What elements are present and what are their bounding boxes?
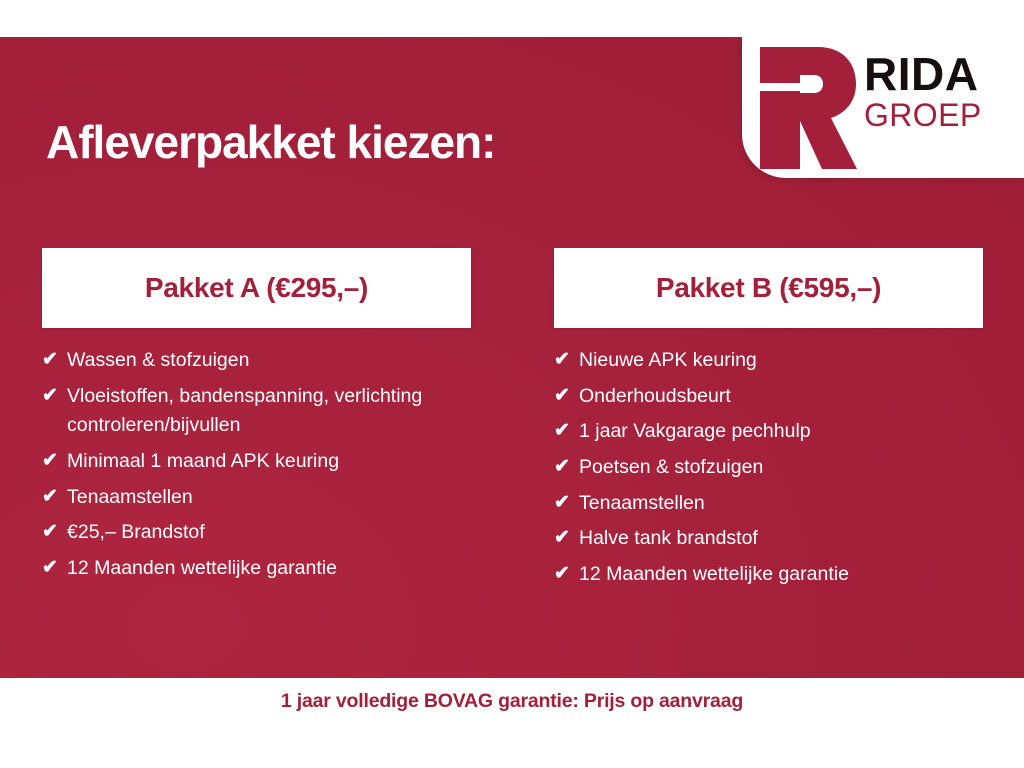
- check-icon: ✔: [554, 453, 579, 482]
- list-item: ✔ Onderhoudsbeurt: [554, 382, 983, 412]
- check-icon: ✔: [554, 524, 579, 553]
- feature-label: 12 Maanden wettelijke garantie: [579, 560, 983, 590]
- list-item: ✔ 1 jaar Vakgarage pechhulp: [554, 417, 983, 447]
- list-item: ✔ Poetsen & stofzuigen: [554, 453, 983, 483]
- list-item: ✔ 12 Maanden wettelijke garantie: [42, 554, 471, 584]
- check-icon: ✔: [42, 447, 67, 476]
- package-columns: Pakket A (€295,–) ✔ Wassen & stofzuigen …: [0, 248, 1024, 595]
- check-icon: ✔: [42, 382, 67, 411]
- main-red-panel: Afleverpakket kiezen: RIDA GROEP Pakket …: [0, 37, 1024, 678]
- feature-label: Wassen & stofzuigen: [67, 346, 471, 376]
- check-icon: ✔: [554, 346, 579, 375]
- feature-label: Tenaamstellen: [579, 489, 983, 519]
- list-item: ✔ Halve tank brandstof: [554, 524, 983, 554]
- list-item: ✔ Vloeistoffen, bandenspanning, verlicht…: [42, 382, 471, 441]
- list-item: ✔ €25,– Brandstof: [42, 518, 471, 548]
- package-b-header: Pakket B (€595,–): [554, 248, 983, 328]
- check-icon: ✔: [554, 560, 579, 589]
- feature-label: 1 jaar Vakgarage pechhulp: [579, 417, 983, 447]
- check-icon: ✔: [42, 518, 67, 547]
- feature-label: Nieuwe APK keuring: [579, 346, 983, 376]
- check-icon: ✔: [554, 382, 579, 411]
- slide-canvas: Afleverpakket kiezen: RIDA GROEP Pakket …: [0, 0, 1024, 768]
- footer-bar: 1 jaar volledige BOVAG garantie: Prijs o…: [0, 678, 1024, 768]
- feature-label: Vloeistoffen, bandenspanning, verlichtin…: [67, 382, 471, 441]
- package-b-feature-list: ✔ Nieuwe APK keuring ✔ Onderhoudsbeurt ✔…: [554, 346, 983, 589]
- feature-label: Tenaamstellen: [67, 483, 471, 513]
- check-icon: ✔: [554, 489, 579, 518]
- footer-note: 1 jaar volledige BOVAG garantie: Prijs o…: [281, 690, 743, 768]
- package-a-header: Pakket A (€295,–): [42, 248, 471, 328]
- package-column-a: Pakket A (€295,–) ✔ Wassen & stofzuigen …: [0, 248, 512, 595]
- check-icon: ✔: [42, 483, 67, 512]
- package-b-title: Pakket B (€595,–): [656, 272, 881, 304]
- feature-label: Onderhoudsbeurt: [579, 382, 983, 412]
- rida-r-monogram-icon: [756, 45, 860, 171]
- check-icon: ✔: [554, 417, 579, 446]
- brand-logo-card: RIDA GROEP: [742, 37, 1024, 178]
- feature-label: €25,– Brandstof: [67, 518, 471, 548]
- feature-label: 12 Maanden wettelijke garantie: [67, 554, 471, 584]
- package-a-feature-list: ✔ Wassen & stofzuigen ✔ Vloeistoffen, ba…: [42, 346, 471, 583]
- check-icon: ✔: [42, 554, 67, 583]
- list-item: ✔ Wassen & stofzuigen: [42, 346, 471, 376]
- brand-name-secondary: GROEP: [864, 98, 1014, 133]
- brand-name-primary: RIDA: [864, 51, 1014, 98]
- list-item: ✔ Tenaamstellen: [554, 489, 983, 519]
- package-a-title: Pakket A (€295,–): [145, 272, 368, 304]
- check-icon: ✔: [42, 346, 67, 375]
- feature-label: Poetsen & stofzuigen: [579, 453, 983, 483]
- brand-wordmark: RIDA GROEP: [864, 51, 1014, 132]
- list-item: ✔ Minimaal 1 maand APK keuring: [42, 447, 471, 477]
- feature-label: Halve tank brandstof: [579, 524, 983, 554]
- list-item: ✔ 12 Maanden wettelijke garantie: [554, 560, 983, 590]
- feature-label: Minimaal 1 maand APK keuring: [67, 447, 471, 477]
- list-item: ✔ Nieuwe APK keuring: [554, 346, 983, 376]
- package-column-b: Pakket B (€595,–) ✔ Nieuwe APK keuring ✔…: [512, 248, 1024, 595]
- list-item: ✔ Tenaamstellen: [42, 483, 471, 513]
- page-title: Afleverpakket kiezen:: [46, 115, 495, 169]
